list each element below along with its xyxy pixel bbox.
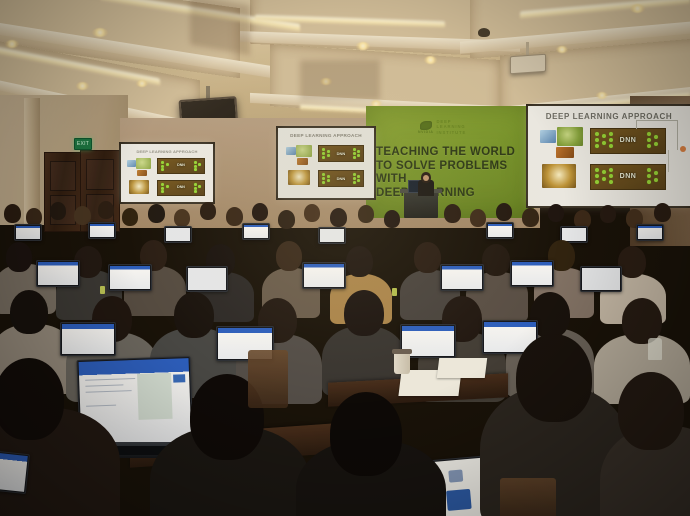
attendee-head xyxy=(618,246,646,278)
attendee-head xyxy=(252,203,268,221)
chair-back xyxy=(500,478,556,516)
attendee-head xyxy=(496,203,512,221)
attendee-head xyxy=(346,246,373,277)
center-slide-title: DEEP LEARNING APPROACH xyxy=(278,133,374,138)
slide-thumbnail-fox xyxy=(556,147,574,158)
slide-thumbnail-leaves xyxy=(557,127,583,146)
banner-headline-line-1: TEACHING THE WORLD xyxy=(376,146,536,160)
attendee-head xyxy=(482,244,510,276)
ceiling-downlight xyxy=(76,82,89,90)
ceiling-downlight xyxy=(356,42,370,50)
attendee-head xyxy=(148,204,165,223)
attendee-head-foreground xyxy=(618,372,684,450)
attendee-head xyxy=(358,205,374,223)
attendee-head xyxy=(50,202,66,220)
attendee-head xyxy=(4,204,21,223)
nvidia-dli-logo: NVIDIA DEEP LEARNING INSTITUTE xyxy=(418,119,466,135)
dnn-diagram-top: DNN xyxy=(590,128,666,154)
dnn-label-bottom: DNN xyxy=(591,173,665,180)
attendee-head xyxy=(304,204,320,222)
attendee-head xyxy=(522,208,539,227)
left-slide-title: DEEP LEARNING APPROACH xyxy=(121,149,213,154)
laptop-lid-edge xyxy=(0,450,30,494)
attendee-head xyxy=(98,201,114,219)
banner-headline-line-2: TO SOLVE PROBLEMS WITH xyxy=(376,160,536,187)
attendee-head xyxy=(414,242,441,273)
attendee-head-foreground xyxy=(0,358,64,440)
attendee-head xyxy=(278,210,295,229)
attendee-head-foreground xyxy=(516,334,592,422)
ceiling-downlight xyxy=(596,92,608,99)
attendee-head xyxy=(6,242,32,272)
attendee-head xyxy=(330,208,347,227)
left-lcd-panel: DEEP LEARNING APPROACH DNN DNN xyxy=(121,144,213,202)
dnn-diagram-bottom: DNN xyxy=(590,164,666,190)
exit-sign: EXIT xyxy=(74,138,92,150)
slide-thumbnail-flower xyxy=(542,164,576,188)
ceiling-dome-camera xyxy=(478,28,490,37)
ceiling-downlight xyxy=(136,80,148,87)
attendee-head xyxy=(384,210,400,228)
ceiling-downlight xyxy=(5,40,19,48)
ceiling-downlight xyxy=(630,4,645,13)
nvidia-eye-icon xyxy=(420,121,432,130)
attendee-head xyxy=(470,209,486,227)
slide-thumbnail-dog xyxy=(540,130,556,143)
speaker-face xyxy=(423,175,429,181)
attendee-head xyxy=(10,290,48,334)
audience-row-foreground xyxy=(0,330,690,516)
attendee-head xyxy=(174,209,190,227)
attendee-head xyxy=(276,241,302,271)
attendee-head xyxy=(200,202,216,220)
attendee-head xyxy=(548,204,564,222)
ceiling-downlight xyxy=(424,56,437,64)
dnn-label-top: DNN xyxy=(591,137,665,144)
attendee-head xyxy=(654,203,671,222)
right-projection-screen: DEEP LEARNING APPROACH DNN xyxy=(528,106,690,206)
attendee-head xyxy=(600,205,616,223)
center-projection-screen: DEEP LEARNING APPROACH DNN xyxy=(278,128,374,198)
attendee-head xyxy=(226,207,243,226)
slide-icon-output xyxy=(680,146,686,152)
chair-back xyxy=(248,350,288,408)
attendee-head-foreground xyxy=(330,392,402,476)
exit-sign-label: EXIT xyxy=(77,141,89,147)
attendee-head xyxy=(444,204,461,223)
attendee-head xyxy=(122,208,138,226)
ceiling-downlight xyxy=(556,46,568,53)
conference-photo: EXIT NVIDIA DEEP LEARNING INSTITUTE TEAC… xyxy=(0,0,690,516)
ceiling-downlight xyxy=(92,28,108,37)
nvidia-wordmark: NVIDIA xyxy=(418,130,433,134)
